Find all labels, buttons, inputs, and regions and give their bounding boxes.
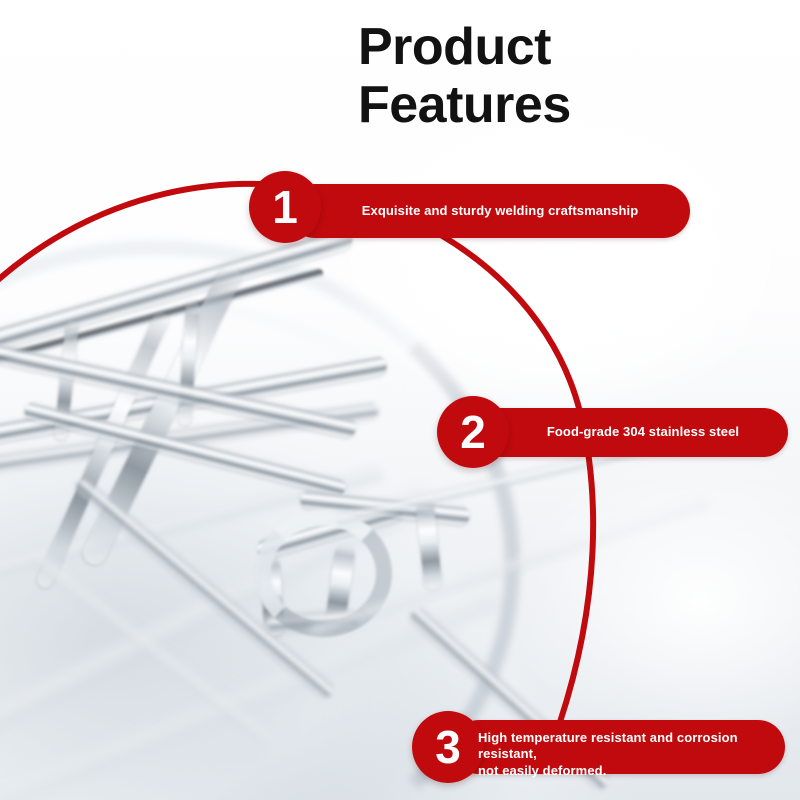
page-title: Product Features xyxy=(358,18,778,134)
feature-text-3-line-2: not easily deformed. xyxy=(478,763,778,779)
feature-text-3: High temperature resistant and corrosion… xyxy=(478,730,778,779)
feature-text-1: Exquisite and sturdy welding craftsmansh… xyxy=(330,203,670,219)
page-title-line-1: Product xyxy=(358,18,551,76)
feature-number-2: 2 xyxy=(460,409,486,455)
feature-badge-2[interactable]: 2 xyxy=(437,396,509,468)
product-features-infographic: Product Features 1 Exquisite and sturdy … xyxy=(0,0,800,800)
feature-text-2-line-1: Food-grade 304 stainless steel xyxy=(547,424,739,439)
feature-badge-3[interactable]: 3 xyxy=(412,711,484,783)
feature-text-2: Food-grade 304 stainless steel xyxy=(512,424,774,440)
page-title-line-2: Features xyxy=(358,76,778,134)
feature-text-1-line-1: Exquisite and sturdy welding craftsmansh… xyxy=(362,203,639,218)
feature-number-1: 1 xyxy=(272,184,298,230)
feature-number-3: 3 xyxy=(435,724,461,770)
feature-badge-1[interactable]: 1 xyxy=(249,171,321,243)
feature-text-3-line-1: High temperature resistant and corrosion… xyxy=(478,730,778,763)
